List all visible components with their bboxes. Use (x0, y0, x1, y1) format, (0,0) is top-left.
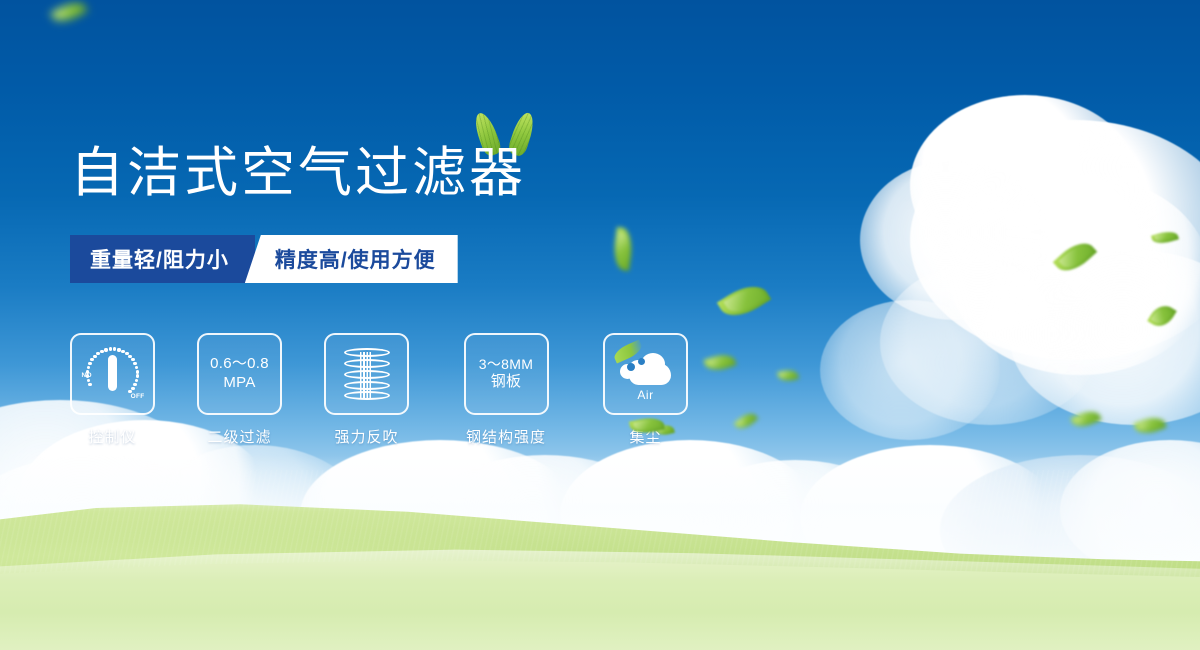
feature-icon-box: 0.6～0.8 MPA (197, 333, 282, 415)
cloud-shape (860, 160, 1050, 320)
page-title: 自洁式空气过滤器 (70, 142, 526, 204)
steel-value-line1: 3～8MM (479, 356, 533, 374)
dial-dot (90, 358, 93, 361)
dial-dot (104, 348, 107, 351)
filter-cartridge-icon (342, 346, 392, 402)
cloud-puff (641, 353, 665, 375)
cartridge-ring (344, 381, 390, 390)
cloud-cutout (627, 363, 635, 371)
feature-item-secondary-filtration[interactable]: 0.6～0.8 MPA 二级过滤 (197, 333, 282, 447)
air-cloud-icon: Air (615, 349, 677, 399)
floating-leaf-icon (1070, 407, 1101, 431)
feature-item-back-blow[interactable]: 强力反吹 (324, 333, 409, 447)
feature-icon-box: NO OFF (70, 333, 155, 415)
floating-leaf-icon (50, 0, 88, 27)
feature-label: 控制仪 (88, 426, 136, 447)
dial-dot (87, 366, 90, 369)
dial-dot (133, 383, 136, 386)
feature-item-controller[interactable]: NO OFF 控制仪 (70, 333, 155, 447)
cloud-shape (950, 175, 1200, 375)
pressure-value-line2: MPA (223, 374, 255, 393)
feature-label: 强力反吹 (334, 426, 398, 447)
dial-off-label: OFF (131, 393, 145, 400)
dial-dot (135, 379, 138, 382)
cloud-shape (880, 260, 1100, 425)
cartridge-ring (344, 391, 390, 400)
dial-dot (135, 366, 138, 369)
cloud-shape (910, 95, 1140, 275)
dial-dot (117, 348, 120, 351)
cloud-shape (820, 300, 1000, 440)
air-caption: Air (615, 388, 677, 402)
tagline-primary: 重量轻/阻力小 (70, 235, 255, 283)
tagline-bar: 重量轻/阻力小 精度高/使用方便 (70, 235, 458, 283)
dial-dot (100, 350, 103, 353)
feature-label: 二级过滤 (207, 426, 271, 447)
floating-leaf-icon (611, 227, 635, 271)
floating-leaf-icon (1133, 413, 1166, 437)
floating-leaf-icon (1151, 229, 1179, 247)
steel-value-line2: 钢板 (491, 373, 522, 392)
cartridge-ring (344, 359, 390, 368)
cartridge-ring (344, 348, 390, 357)
feature-list: NO OFF 控制仪 0.6～0.8 MPA 二级过滤 (70, 333, 688, 447)
dial-dot (113, 347, 116, 350)
dial-dot (131, 387, 134, 390)
floating-leaf-icon (777, 368, 799, 383)
floating-leaf-icon (717, 277, 771, 324)
dial-on-label: NO (82, 372, 92, 379)
feature-icon-box (324, 333, 409, 415)
feature-icon-box: 3～8MM 钢板 (464, 333, 549, 415)
cartridge-ring (344, 370, 390, 379)
dial-icon: NO OFF (83, 345, 143, 403)
cloud-cutout (638, 358, 645, 365)
floating-leaf-icon (1147, 301, 1177, 332)
dial-dot (93, 355, 96, 358)
hero-banner: 自洁式空气过滤器 重量轻/阻力小 精度高/使用方便 NO OFF 控制仪 0.6… (0, 0, 1200, 650)
cloud-shape (1010, 250, 1200, 425)
dial-dot (87, 379, 90, 382)
dial-dot (109, 347, 112, 350)
tagline-secondary: 精度高/使用方便 (245, 235, 458, 283)
dial-dot (88, 362, 91, 365)
feature-item-steel-strength[interactable]: 3～8MM 钢板 钢结构强度 (451, 333, 561, 447)
dial-pointer (108, 355, 117, 391)
pressure-value-line1: 0.6～0.8 (210, 355, 269, 374)
dial-dot (133, 362, 136, 365)
feature-label: 钢结构强度 (466, 426, 546, 447)
floating-leaf-icon (734, 409, 759, 432)
feature-icon-box: Air (603, 333, 688, 415)
floating-leaf-icon (703, 351, 736, 375)
dial-dot (88, 383, 91, 386)
floating-leaf-icon (1053, 235, 1097, 278)
dial-dot (136, 374, 139, 377)
dial-dot (136, 370, 139, 373)
dial-dot (131, 358, 134, 361)
